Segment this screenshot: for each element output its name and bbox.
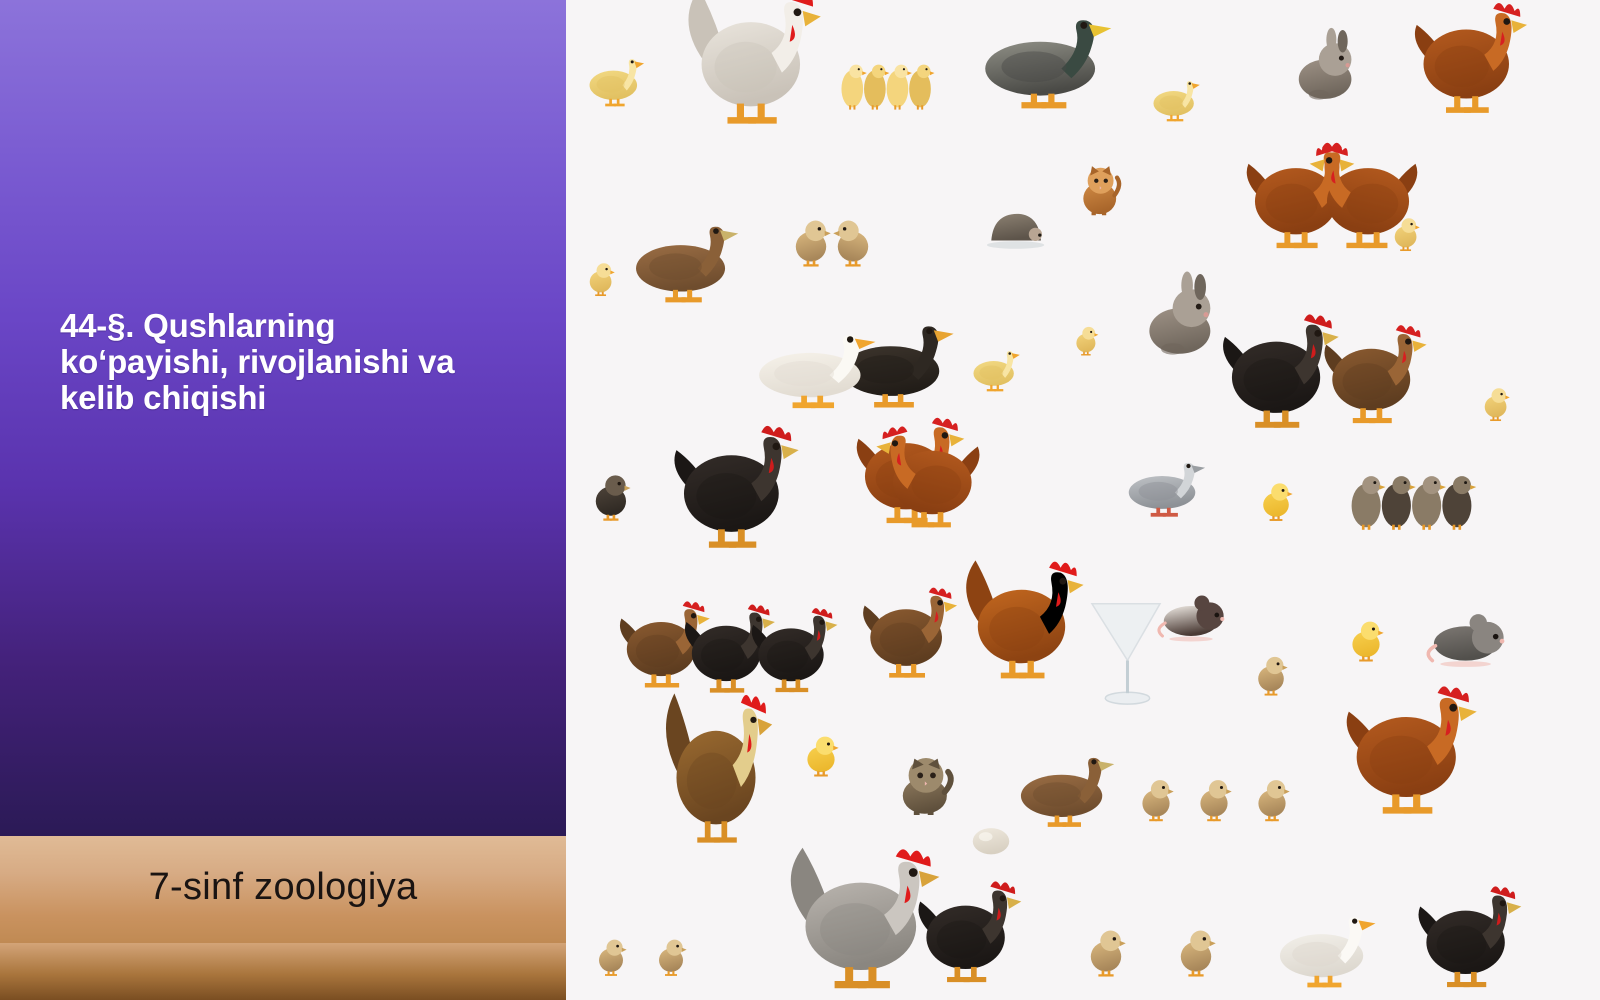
subtitle-label: 7-sinf zoologiya	[0, 840, 566, 935]
collage-animal-goose-white	[758, 326, 873, 405]
collage-animal-kitten-tabby	[897, 755, 955, 815]
collage-animal-chick-small	[1074, 324, 1098, 355]
collage-animal-egg	[972, 827, 1010, 856]
collage-animal-chick-yellow	[1260, 480, 1292, 520]
collage-animal-cocktail-glass	[1089, 592, 1163, 710]
collage-animal-chick-quail	[1139, 776, 1173, 820]
collage-animal-rabbit	[1295, 30, 1358, 100]
collage-animal-hen-orange	[1410, 0, 1523, 110]
collage-animal-chick-group	[1351, 466, 1472, 530]
collage-animal-chick-yellow	[804, 733, 838, 776]
collage-animal-chick-quail	[1255, 776, 1289, 820]
collage-animal-hen-black	[1414, 879, 1517, 985]
collage-animal-rat-grey	[1426, 608, 1505, 665]
collage-animal-chick-quail	[1255, 653, 1287, 695]
collage-animal-rat-hooded	[1157, 590, 1225, 640]
collage-animal-rabbit	[1145, 274, 1218, 355]
collage-animal-duckling	[589, 53, 643, 105]
collage-animal-hen-black	[748, 602, 834, 690]
collage-animal-kitten-ginger	[1079, 163, 1122, 215]
collage-animal-chick-quail	[834, 216, 872, 265]
collage-animal-hedgehog	[988, 207, 1043, 245]
subtitle-bar-lower	[0, 943, 566, 1000]
collage-animal-chick-pair	[841, 55, 931, 110]
collage-animal-hen-black	[914, 874, 1017, 980]
collage-animal-rooster-grey	[788, 839, 934, 985]
collage-animal-pigeon	[1128, 456, 1204, 515]
collage-animal-hen-brown	[859, 581, 953, 675]
collage-animal-rooster-white-wings	[686, 0, 816, 120]
page-title: 44-§. Qushlarning ko‘payishi, rivojlanis…	[60, 308, 760, 416]
collage-animal-hen-brown	[1320, 318, 1423, 421]
collage-animal-duckling	[1153, 76, 1199, 120]
collage-animal-duck-white	[1279, 908, 1374, 985]
poultry-collage-image	[566, 0, 1600, 1000]
collage-animal-chick-small	[1482, 385, 1509, 420]
collage-animal-chick-quail	[1087, 926, 1125, 975]
collage-animal-rooster-longtail	[664, 684, 768, 840]
title-panel	[0, 0, 566, 836]
collage-animal-duckling	[973, 346, 1019, 390]
collage-animal-hen-orange	[1314, 135, 1422, 245]
collage-animal-chick-quail	[1177, 926, 1215, 975]
collage-animal-chick-quail	[792, 216, 830, 265]
presentation-slide: 44-§. Qushlarning ko‘payishi, rivojlanis…	[0, 0, 1600, 1000]
collage-animal-hen-orange	[881, 419, 985, 525]
collage-animal-chick-dark	[592, 471, 630, 520]
collage-animal-hen-orange	[1341, 677, 1472, 810]
collage-animal-chick-yellow	[1349, 618, 1383, 661]
collage-animal-hen-black	[669, 417, 794, 545]
collage-animal-chick-small	[587, 260, 614, 295]
collage-animal-duck-brown	[635, 217, 736, 300]
collage-animal-rooster-orange	[964, 553, 1079, 676]
collage-animal-duck-mallard	[984, 9, 1109, 105]
collage-animal-duck-brown	[1020, 749, 1112, 825]
collage-animal-chick-quail	[1197, 776, 1231, 820]
collage-animal-chick-quail	[656, 936, 686, 975]
collage-animal-hen-black	[1218, 306, 1334, 425]
collage-animal-chick-quail	[596, 936, 626, 975]
